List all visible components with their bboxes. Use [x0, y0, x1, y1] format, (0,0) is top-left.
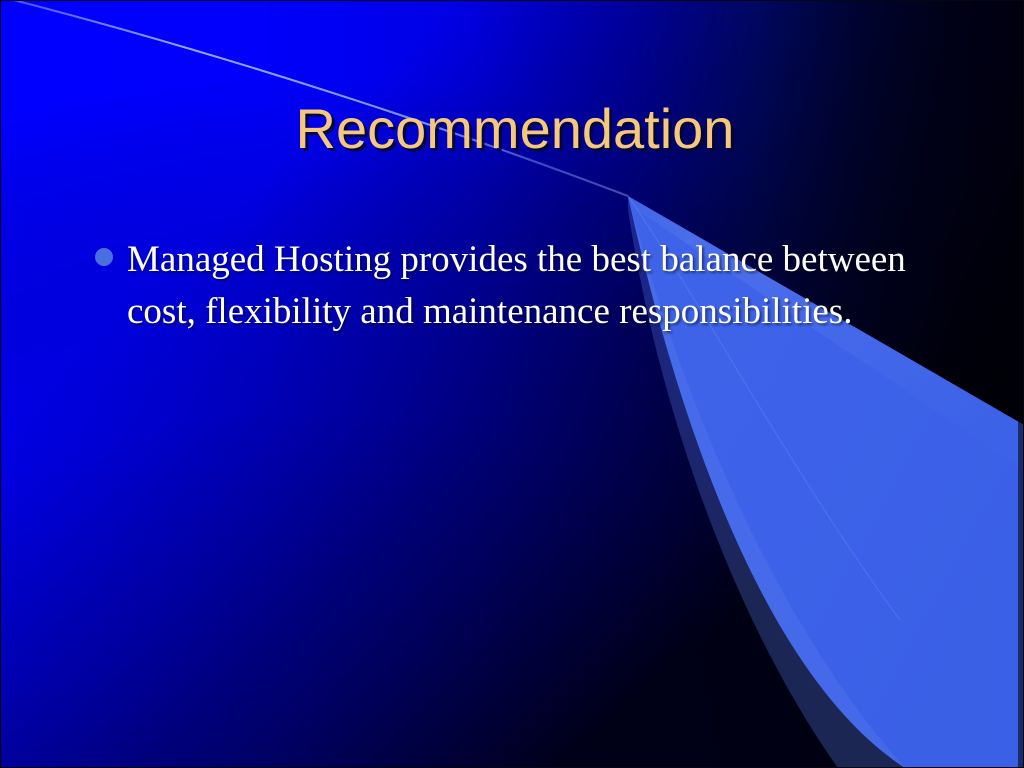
presentation-slide: Recommendation Managed Hosting provides … [0, 0, 1024, 768]
bullet-item: Managed Hosting provides the best balanc… [92, 234, 952, 338]
slide-content: Recommendation Managed Hosting provides … [0, 0, 1024, 768]
filled-circle-bullet-icon [95, 248, 113, 266]
slide-title: Recommendation [60, 96, 970, 162]
slide-body: Managed Hosting provides the best balanc… [92, 234, 952, 338]
bullet-text: Managed Hosting provides the best balanc… [127, 234, 937, 338]
